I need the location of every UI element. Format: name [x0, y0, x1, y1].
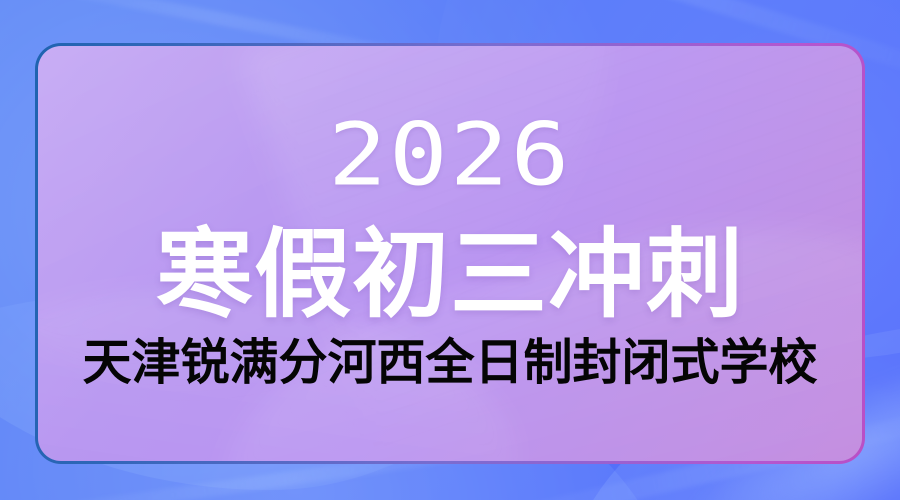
poster-card: 2026 寒假初三冲刺 天津锐满分河西全日制封闭式学校: [35, 43, 865, 464]
poster-card-inner: 2026 寒假初三冲刺 天津锐满分河西全日制封闭式学校: [38, 46, 862, 461]
promo-poster: 2026 寒假初三冲刺 天津锐满分河西全日制封闭式学校: [0, 0, 900, 500]
poster-year: 2026: [328, 112, 571, 198]
poster-subtitle: 天津锐满分河西全日制封闭式学校: [82, 337, 817, 388]
poster-headline: 寒假初三冲刺: [156, 226, 744, 325]
